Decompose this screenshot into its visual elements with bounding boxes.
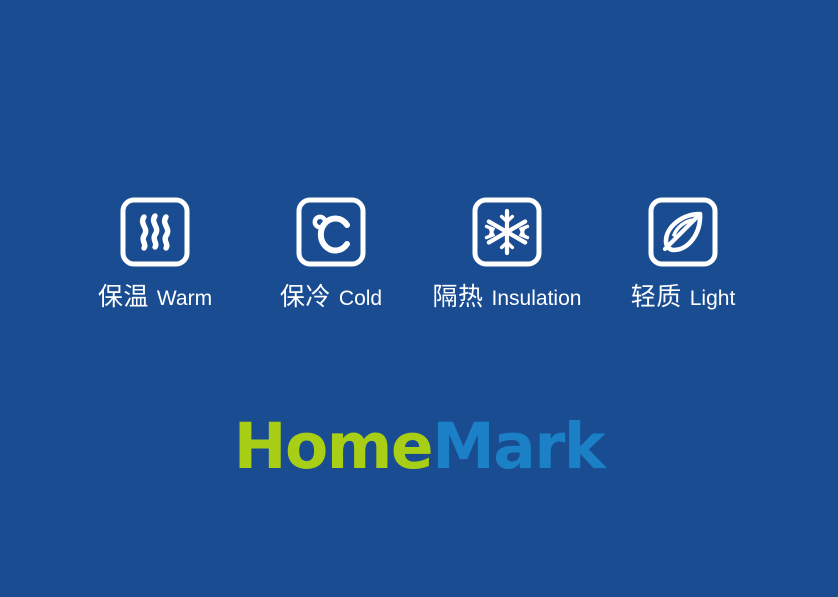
brand-logo: HomeMark: [0, 415, 838, 478]
brand-logo-home: Home: [234, 410, 432, 483]
celsius-degree-icon: [295, 196, 367, 268]
feature-item-warm: 保温 Warm: [67, 196, 243, 310]
feature-label-en: Cold: [339, 288, 382, 309]
feature-label-cn: 轻质: [631, 285, 682, 310]
feather-leaf-icon: [647, 196, 719, 268]
feature-label-light: 轻质 Light: [631, 285, 736, 310]
promo-poster: 保温 Warm 保冷 Cold: [0, 0, 838, 597]
feature-label-cn: 保冷: [280, 285, 331, 310]
feature-label-cold: 保冷 Cold: [280, 285, 382, 310]
feature-label-en: Insulation: [492, 288, 582, 309]
feature-item-light: 轻质 Light: [595, 196, 771, 310]
feature-row: 保温 Warm 保冷 Cold: [0, 196, 838, 310]
feature-label-warm: 保温 Warm: [98, 285, 212, 310]
feature-label-cn: 隔热: [433, 285, 484, 310]
brand-logo-mark: Mark: [432, 410, 604, 483]
snowflake-icon: [471, 196, 543, 268]
feature-item-insulation: 隔热 Insulation: [419, 196, 595, 310]
feature-label-cn: 保温: [98, 285, 149, 310]
heat-waves-icon: [119, 196, 191, 268]
feature-label-en: Light: [690, 288, 736, 309]
feature-item-cold: 保冷 Cold: [243, 196, 419, 310]
feature-label-en: Warm: [157, 288, 212, 309]
feature-label-insulation: 隔热 Insulation: [433, 285, 582, 310]
